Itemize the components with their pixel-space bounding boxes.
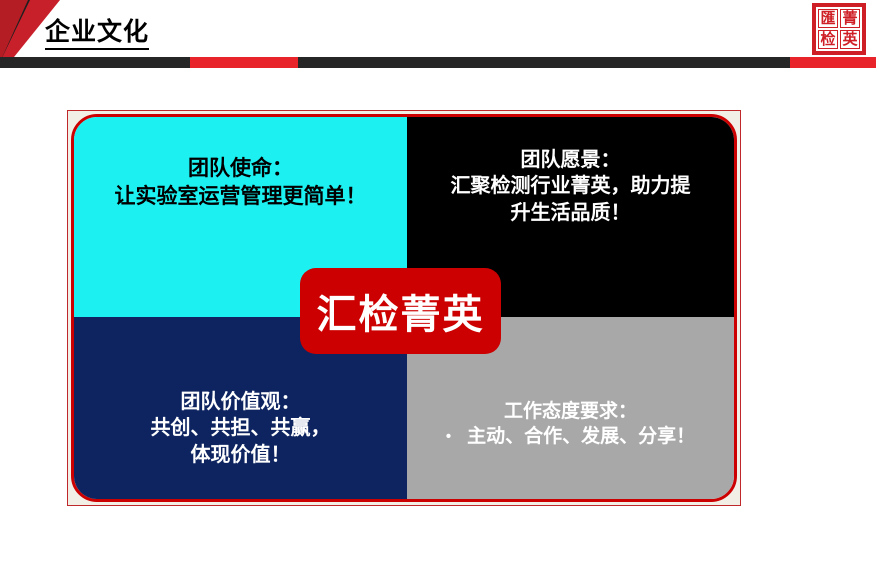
attitude-body: 主动、合作、发展、分享！ <box>467 424 695 449</box>
center-brand-label: 汇检菁英 <box>317 282 485 340</box>
header-rule-dark <box>0 57 876 68</box>
seal-char-bottom-left: 检 <box>818 30 838 49</box>
seal-char-top-left: 匯 <box>818 9 838 28</box>
vision-body-line-2: 升生活品质！ <box>511 200 631 226</box>
bullet-dot-icon: • <box>446 429 451 444</box>
seal-char-bottom-right: 英 <box>840 30 860 49</box>
mission-body: 让实验室运营管理更简单！ <box>115 183 367 211</box>
page-title: 企业文化 <box>45 17 149 50</box>
seal-logo-icon: 匯 菁 检 英 <box>812 3 866 55</box>
values-body-line-1: 共创、共担、共赢， <box>151 415 331 441</box>
mission-heading: 团队使命： <box>188 155 293 183</box>
attitude-heading: 工作态度要求： <box>504 399 637 424</box>
values-heading: 团队价值观： <box>181 389 301 415</box>
center-brand-badge: 汇检菁英 <box>300 268 501 354</box>
vision-body-line-1: 汇聚检测行业菁英，助力提 <box>451 173 691 199</box>
page-header: 企业文化 <box>0 0 876 72</box>
values-body-line-2: 体现价值！ <box>191 442 291 468</box>
header-rule-red-left <box>190 57 298 68</box>
attitude-bullet-item: • 主动、合作、发展、分享！ <box>446 424 695 449</box>
seal-char-top-right: 菁 <box>840 9 860 28</box>
header-rule-red-right <box>790 57 876 68</box>
vision-heading: 团队愿景： <box>521 147 621 173</box>
